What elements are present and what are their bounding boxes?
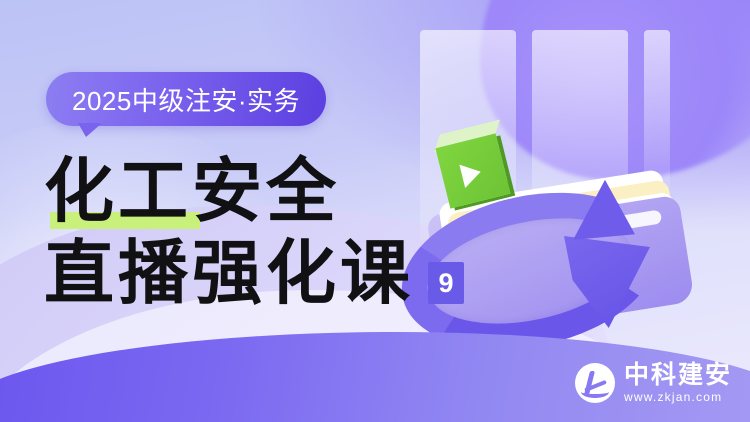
- course-badge: 2025中级注安·实务: [46, 72, 326, 126]
- brand-name: 中科建安: [624, 362, 732, 388]
- headline-line-2-row: 直播强化课 9: [44, 234, 464, 316]
- brand-url: www.zkjan.com: [624, 391, 732, 404]
- headline-block: 化工安全 直播强化课 9: [44, 152, 464, 316]
- episode-number-badge: 9: [428, 262, 464, 304]
- brand-logo: 中科建安 www.zkjan.com: [575, 362, 732, 404]
- brand-logo-text: 中科建安 www.zkjan.com: [624, 362, 732, 404]
- course-badge-pill: 2025中级注安·实务: [46, 72, 326, 126]
- course-badge-tail: [78, 123, 102, 137]
- headline-line-2: 直播强化课: [44, 234, 414, 316]
- zkjan-logo-icon: [575, 363, 615, 403]
- course-badge-label: 2025中级注安·实务: [72, 81, 300, 118]
- headline-line-1: 化工安全: [44, 152, 464, 234]
- logo-swoosh-icon: [581, 386, 609, 398]
- headline-line-1-row: 化工安全: [44, 152, 464, 234]
- course-promo-banner: 2025中级注安·实务 化工安全 直播强化课 9 中科建安 www.zkjan.…: [0, 0, 750, 422]
- light-bar-3: [644, 30, 670, 190]
